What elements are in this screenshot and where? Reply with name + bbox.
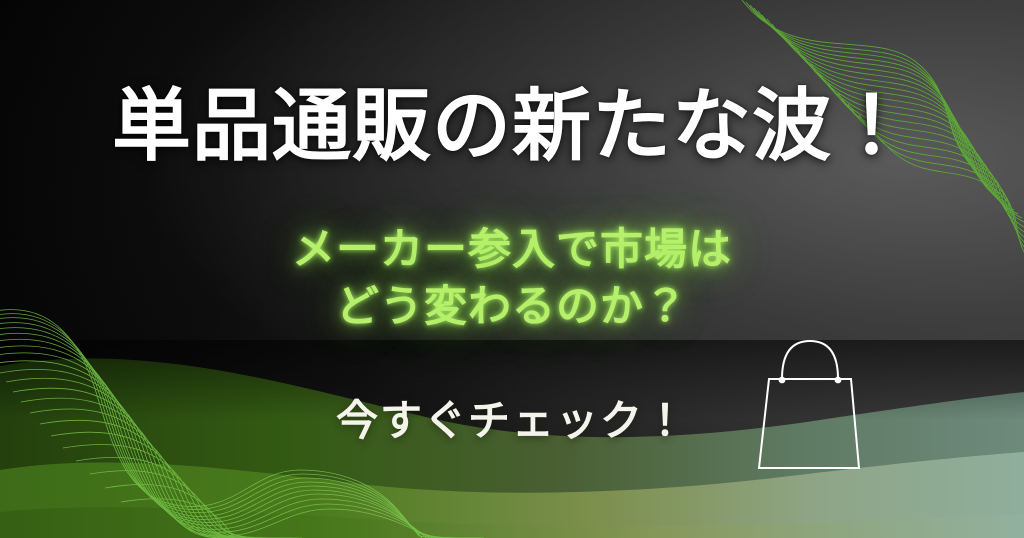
- bag-handle-rivet-left: [779, 377, 786, 384]
- page-title: 単品通販の新たな波！: [0, 86, 1024, 165]
- bag-handle-rivet-right: [835, 377, 842, 384]
- shopping-bag-icon: [745, 335, 875, 480]
- promo-banner: 単品通販の新たな波！ メーカー参入で市場は どう変わるのか？ 今すぐチェック！: [0, 0, 1024, 538]
- subtitle: メーカー参入で市場は どう変わるのか？: [0, 222, 1024, 336]
- subtitle-line-2: どう変わるのか？: [0, 279, 1024, 336]
- subtitle-line-1: メーカー参入で市場は: [0, 222, 1024, 279]
